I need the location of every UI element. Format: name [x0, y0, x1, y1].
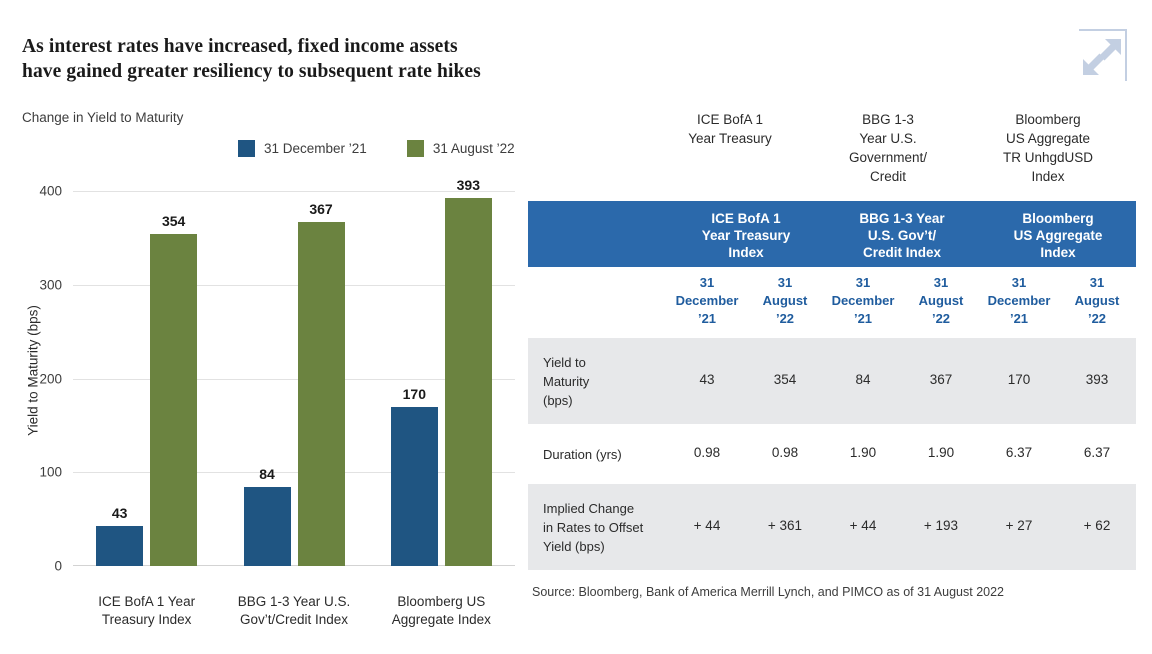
table-subheader-2: 31December’21	[824, 274, 902, 328]
table-subheader-line: December	[980, 292, 1058, 310]
table-header-group-1: BBG 1-3 YearU.S. Gov’t/Credit Index	[824, 210, 980, 261]
table-subheader-line: ’21	[980, 310, 1058, 328]
data-table-panel: ICE BofA 1Year TreasuryBBG 1-3Year U.S.G…	[528, 0, 1152, 654]
bar-value-label: 367	[286, 201, 356, 217]
table-cell: 6.37	[980, 445, 1058, 460]
table-cell: 84	[824, 372, 902, 387]
table-header-group-line: Year Treasury	[668, 227, 824, 244]
bar-value-label: 393	[433, 177, 503, 193]
x-axis-category-line: Aggregate Index	[366, 611, 516, 629]
table-cell: + 361	[746, 518, 824, 533]
table-subheader-line: ’21	[824, 310, 902, 328]
bar-2-1	[445, 198, 492, 566]
table-subheader-4: 31December’21	[980, 274, 1058, 328]
table-top-label-1: BBG 1-3Year U.S.Government/Credit	[818, 110, 958, 186]
table-header-band: ICE BofA 1Year TreasuryIndexBBG 1-3 Year…	[528, 201, 1136, 267]
bar-value-label: 43	[85, 505, 155, 521]
bar-value-label: 354	[139, 213, 209, 229]
table-cell: 0.98	[746, 445, 824, 460]
table-cell: 367	[902, 372, 980, 387]
table-header-group-line: ICE BofA 1	[668, 210, 824, 227]
table-header-group-line: Bloomberg	[980, 210, 1136, 227]
bar-1-1	[298, 222, 345, 566]
table-row-label-line: Maturity	[543, 372, 589, 391]
x-axis-category-line: Bloomberg US	[366, 593, 516, 611]
x-axis-category-2: Bloomberg USAggregate Index	[366, 593, 516, 629]
source-note: Source: Bloomberg, Bank of America Merri…	[532, 585, 1004, 599]
table-subheader-line: 31	[668, 274, 746, 292]
table-subheader-line: December	[824, 292, 902, 310]
table-header-group-line: Index	[980, 244, 1136, 261]
table-cell: 1.90	[824, 445, 902, 460]
table-subheader-line: August	[746, 292, 824, 310]
table-subheader-1: 31August’22	[746, 274, 824, 328]
x-axis-category-line: Gov’t/Credit Index	[219, 611, 369, 629]
plot-area: 43354ICE BofA 1 YearTreasury Index84367B…	[73, 191, 515, 566]
legend-swatch-august	[407, 140, 424, 157]
chart-subtitle: Change in Yield to Maturity	[22, 110, 183, 125]
table-cell: 393	[1058, 372, 1136, 387]
table-cell: 6.37	[1058, 445, 1136, 460]
table-header-group-line: BBG 1-3 Year	[824, 210, 980, 227]
chart-legend: 31 December ’21 31 August ’22	[238, 140, 515, 157]
table-top-label-line: Bloomberg	[978, 110, 1118, 129]
bar-0-0	[96, 526, 143, 566]
table-top-label-line: Credit	[818, 167, 958, 186]
x-axis-category-line: Treasury Index	[72, 611, 222, 629]
table-row-label-line: Yield (bps)	[543, 537, 643, 556]
table-subheader-line: 31	[824, 274, 902, 292]
bar-2-0	[391, 407, 438, 566]
bar-value-label: 84	[232, 466, 302, 482]
table-subheader-line: ’22	[746, 310, 824, 328]
table-subheader-line: 31	[902, 274, 980, 292]
y-axis-ticks: 0100200300400	[20, 175, 62, 575]
table-row-label-line: in Rates to Offset	[543, 518, 643, 537]
x-axis-category-line: ICE BofA 1 Year	[72, 593, 222, 611]
x-axis-category-0: ICE BofA 1 YearTreasury Index	[72, 593, 222, 629]
table-cell: + 44	[824, 518, 902, 533]
table-cell: 354	[746, 372, 824, 387]
bar-chart: Yield to Maturity (bps) 0100200300400 43…	[0, 175, 530, 635]
table-top-label-line: US Aggregate	[978, 129, 1118, 148]
table-cell: + 193	[902, 518, 980, 533]
table-row-label-line: (bps)	[543, 391, 589, 410]
table-row: Yield toMaturity(bps)4335484367170393	[528, 338, 1136, 424]
table-top-label-line: TR UnhgdUSD	[978, 148, 1118, 167]
table-subheader-line: ’22	[1058, 310, 1136, 328]
table-cell: 170	[980, 372, 1058, 387]
table-cell: 0.98	[668, 445, 746, 460]
table-top-label-line: Government/	[818, 148, 958, 167]
table-row: Implied Changein Rates to OffsetYield (b…	[528, 484, 1136, 570]
table-subheader-0: 31December’21	[668, 274, 746, 328]
table-subheader-line: 31	[746, 274, 824, 292]
table-subheader-line: August	[902, 292, 980, 310]
y-axis-tick-100: 100	[20, 465, 62, 480]
table-top-label-2: BloombergUS AggregateTR UnhgdUSDIndex	[978, 110, 1118, 186]
legend-label-august: 31 August ’22	[433, 141, 515, 156]
y-axis-tick-0: 0	[20, 559, 62, 574]
table-row-label: Duration (yrs)	[543, 445, 622, 464]
table-top-label-0: ICE BofA 1Year Treasury	[660, 110, 800, 148]
legend-item-1: 31 August ’22	[407, 140, 515, 157]
table-subheader-row: 31December’2131August’2231December’2131A…	[528, 274, 1136, 336]
page-title-line-2: have gained greater resiliency to subseq…	[22, 59, 522, 84]
table-header-group-line: US Aggregate	[980, 227, 1136, 244]
table-subheader-line: August	[1058, 292, 1136, 310]
table-subheader-line: December	[668, 292, 746, 310]
bar-value-label: 170	[379, 386, 449, 402]
table-cell: 1.90	[902, 445, 980, 460]
table-header-group-line: U.S. Gov’t/	[824, 227, 980, 244]
table-subheader-5: 31August’22	[1058, 274, 1136, 328]
y-axis-tick-300: 300	[20, 277, 62, 292]
bar-1-0	[244, 487, 291, 566]
table-row-label: Implied Changein Rates to OffsetYield (b…	[543, 499, 643, 556]
table-cell: + 62	[1058, 518, 1136, 533]
table-header-group-0: ICE BofA 1Year TreasuryIndex	[668, 210, 824, 261]
table-subheader-3: 31August’22	[902, 274, 980, 328]
table-header-group-2: BloombergUS AggregateIndex	[980, 210, 1136, 261]
table-row-label-line: Yield to	[543, 353, 589, 372]
table-header-group-line: Index	[668, 244, 824, 261]
x-axis-category-1: BBG 1-3 Year U.S.Gov’t/Credit Index	[219, 593, 369, 629]
table-header-group-line: Credit Index	[824, 244, 980, 261]
table-row-label: Yield toMaturity(bps)	[543, 353, 589, 410]
y-axis-tick-400: 400	[20, 184, 62, 199]
y-axis-tick-200: 200	[20, 371, 62, 386]
table-row-label-line: Implied Change	[543, 499, 643, 518]
table-cell: + 44	[668, 518, 746, 533]
table-top-label-line: Year U.S.	[818, 129, 958, 148]
table-row-label-line: Duration (yrs)	[543, 445, 622, 464]
table-top-label-line: ICE BofA 1	[660, 110, 800, 129]
table-subheader-line: 31	[1058, 274, 1136, 292]
legend-item-0: 31 December ’21	[238, 140, 367, 157]
page-title-line-1: As interest rates have increased, fixed …	[22, 34, 522, 59]
table-top-label-line: Index	[978, 167, 1118, 186]
legend-label-december: 31 December ’21	[264, 141, 367, 156]
legend-swatch-december	[238, 140, 255, 157]
table-subheader-line: 31	[980, 274, 1058, 292]
table-top-label-line: BBG 1-3	[818, 110, 958, 129]
table-cell: + 27	[980, 518, 1058, 533]
table-row: Duration (yrs)0.980.981.901.906.376.37	[528, 424, 1136, 484]
bar-0-1	[150, 234, 197, 566]
x-axis-category-line: BBG 1-3 Year U.S.	[219, 593, 369, 611]
table-subheader-line: ’22	[902, 310, 980, 328]
table-subheader-line: ’21	[668, 310, 746, 328]
table-cell: 43	[668, 372, 746, 387]
table-top-label-line: Year Treasury	[660, 129, 800, 148]
page-title: As interest rates have increased, fixed …	[22, 34, 522, 84]
